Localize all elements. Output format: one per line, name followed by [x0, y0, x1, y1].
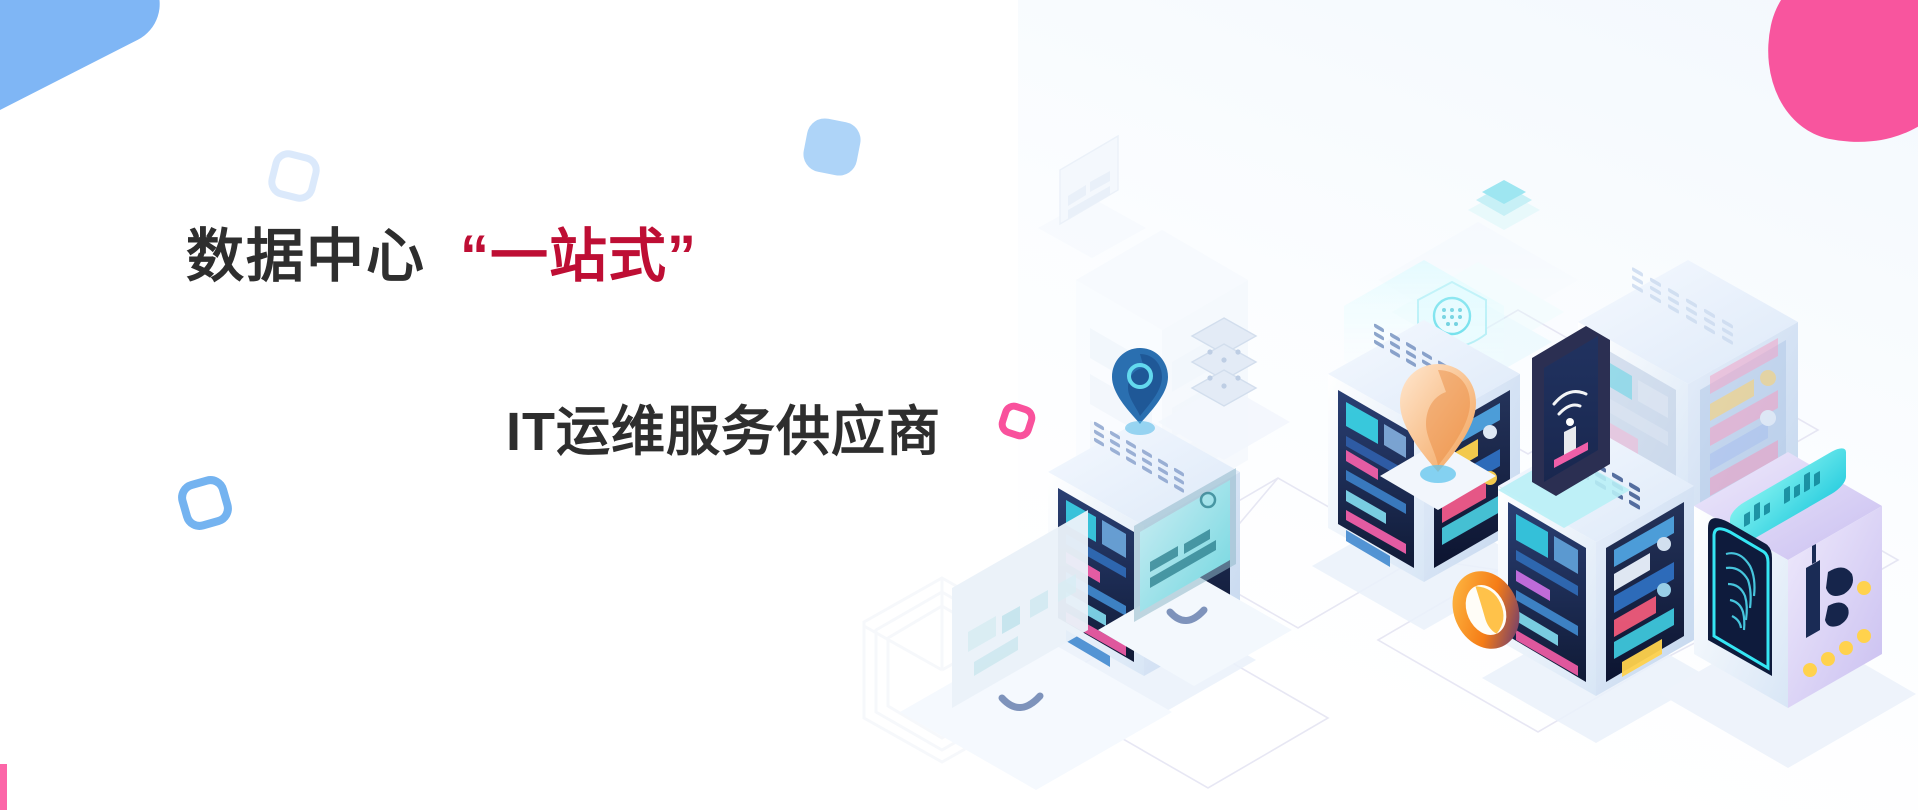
- datacenter-illustration: [858, 0, 1918, 810]
- ring-upper-left-decoration: [265, 147, 323, 205]
- blob-top-left-decoration: [0, 0, 173, 140]
- square-soft-blue-decoration: [800, 115, 863, 178]
- hero-banner: 数据中心“一站式” IT运维服务供应商: [0, 0, 1918, 810]
- bar-bottom-left-decoration: [0, 764, 7, 810]
- headline-quoted-phrase: “一站式”: [460, 224, 697, 289]
- ring-left-mid-decoration: [174, 472, 236, 534]
- headline-prefix: 数据中心: [186, 224, 426, 289]
